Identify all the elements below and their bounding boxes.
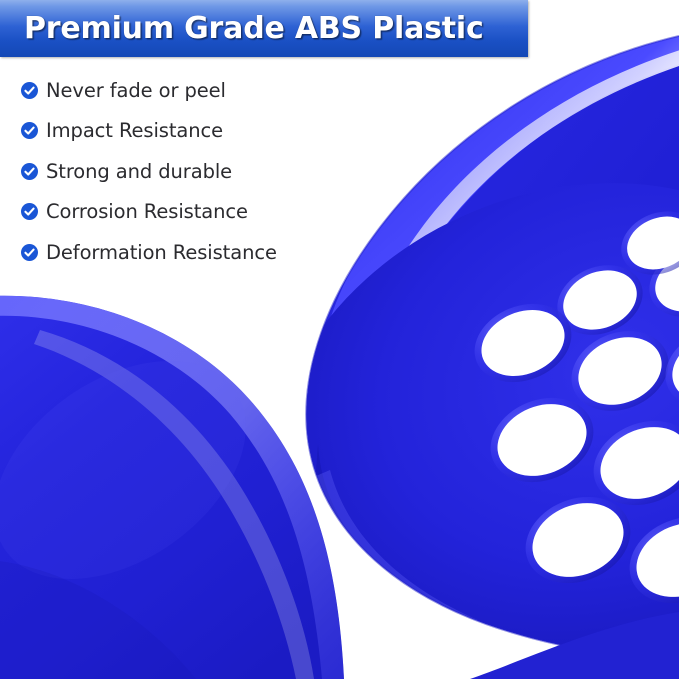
header-banner: Premium Grade ABS Plastic xyxy=(0,0,528,57)
list-item-label: Deformation Resistance xyxy=(46,243,277,263)
page-title: Premium Grade ABS Plastic xyxy=(24,11,484,46)
list-item-label: Never fade or peel xyxy=(46,81,226,101)
list-item-label: Impact Resistance xyxy=(46,121,223,141)
check-circle-icon xyxy=(21,244,38,261)
list-item: Strong and durable xyxy=(21,151,421,192)
product-feature-image: Premium Grade ABS Plastic Never fade or … xyxy=(0,0,679,679)
check-circle-icon xyxy=(21,203,38,220)
check-circle-icon xyxy=(21,163,38,180)
feature-list: Never fade or peel Impact Resistance Str… xyxy=(21,70,421,273)
list-item-label: Corrosion Resistance xyxy=(46,202,248,222)
list-item-label: Strong and durable xyxy=(46,162,232,182)
list-item: Impact Resistance xyxy=(21,111,421,152)
check-circle-icon xyxy=(21,122,38,139)
list-item: Corrosion Resistance xyxy=(21,192,421,233)
list-item: Never fade or peel xyxy=(21,70,421,111)
check-circle-icon xyxy=(21,82,38,99)
list-item: Deformation Resistance xyxy=(21,232,421,273)
